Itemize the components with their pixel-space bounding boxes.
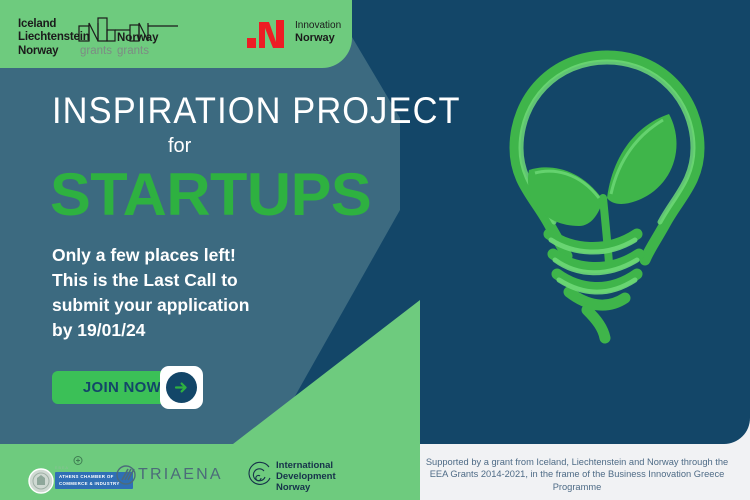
athens-chamber-seal-icon xyxy=(28,468,54,494)
footer-disclaimer: Supported by a grant from Iceland, Liech… xyxy=(418,456,736,493)
triaena-label: TRIAENA xyxy=(138,466,223,483)
athens-chamber-emblem-icon xyxy=(72,456,84,465)
eea-grants-word: grants xyxy=(80,45,112,57)
partner-triaena: TRIAENA xyxy=(138,466,223,484)
title-subject: STARTUPS xyxy=(50,160,371,229)
arrow-right-icon[interactable] xyxy=(166,372,197,403)
athens-chamber-line-1: ATHENS CHAMBER OF xyxy=(59,474,114,479)
norway-grants-word: Norway xyxy=(117,32,159,44)
innovation-norway-logo: Innovation Norway xyxy=(245,18,355,58)
body-line-2: This is the Last Call to xyxy=(52,268,249,293)
partner-idn: International Development Norway xyxy=(248,458,388,496)
join-now-arrow-box[interactable] xyxy=(160,366,203,409)
partner-logos: ΕΒΕΑ ATHENS CHAMBER OF COMMERCE & INDUST… xyxy=(0,452,392,500)
title-connector: for xyxy=(168,135,191,158)
body-line-1: Only a few places left! xyxy=(52,243,249,268)
body-copy: Only a few places left! This is the Last… xyxy=(52,243,249,343)
body-line-3: submit your application xyxy=(52,293,249,318)
norway-label: Norway xyxy=(295,32,335,44)
norway-grants-sub: grants xyxy=(117,45,149,57)
eea-grants-logo: Iceland Liechtenstein Norway grants Norw… xyxy=(18,12,188,60)
idn-line-2: Development xyxy=(276,471,336,482)
idn-line-1: International xyxy=(276,460,336,471)
triaena-circle-icon xyxy=(116,465,136,485)
athens-chamber-line-2: COMMERCE & INDUSTRY xyxy=(59,481,120,486)
eea-logo-countries: Iceland Liechtenstein Norway xyxy=(18,18,90,58)
eea-line-iceland: Iceland xyxy=(18,18,90,31)
body-line-4: by 19/01/24 xyxy=(52,318,249,343)
eea-line-norway: Norway xyxy=(18,45,90,58)
eea-line-liechtenstein: Liechtenstein xyxy=(18,31,90,44)
page-title: INSPIRATION PROJECT xyxy=(52,90,461,132)
join-now-button[interactable]: JOIN NOW xyxy=(52,371,192,404)
idn-label: International Development Norway xyxy=(276,460,336,493)
lightbulb-with-sprout-icon xyxy=(487,48,727,398)
innovation-norway-n-icon xyxy=(245,18,293,54)
idn-swirl-icon xyxy=(248,460,274,488)
idn-line-3: Norway xyxy=(276,482,336,493)
promo-poster: Iceland Liechtenstein Norway grants Norw… xyxy=(0,0,750,500)
innovation-label: Innovation xyxy=(295,20,341,31)
athens-chamber-greek-label: ΕΒΕΑ xyxy=(55,466,69,470)
